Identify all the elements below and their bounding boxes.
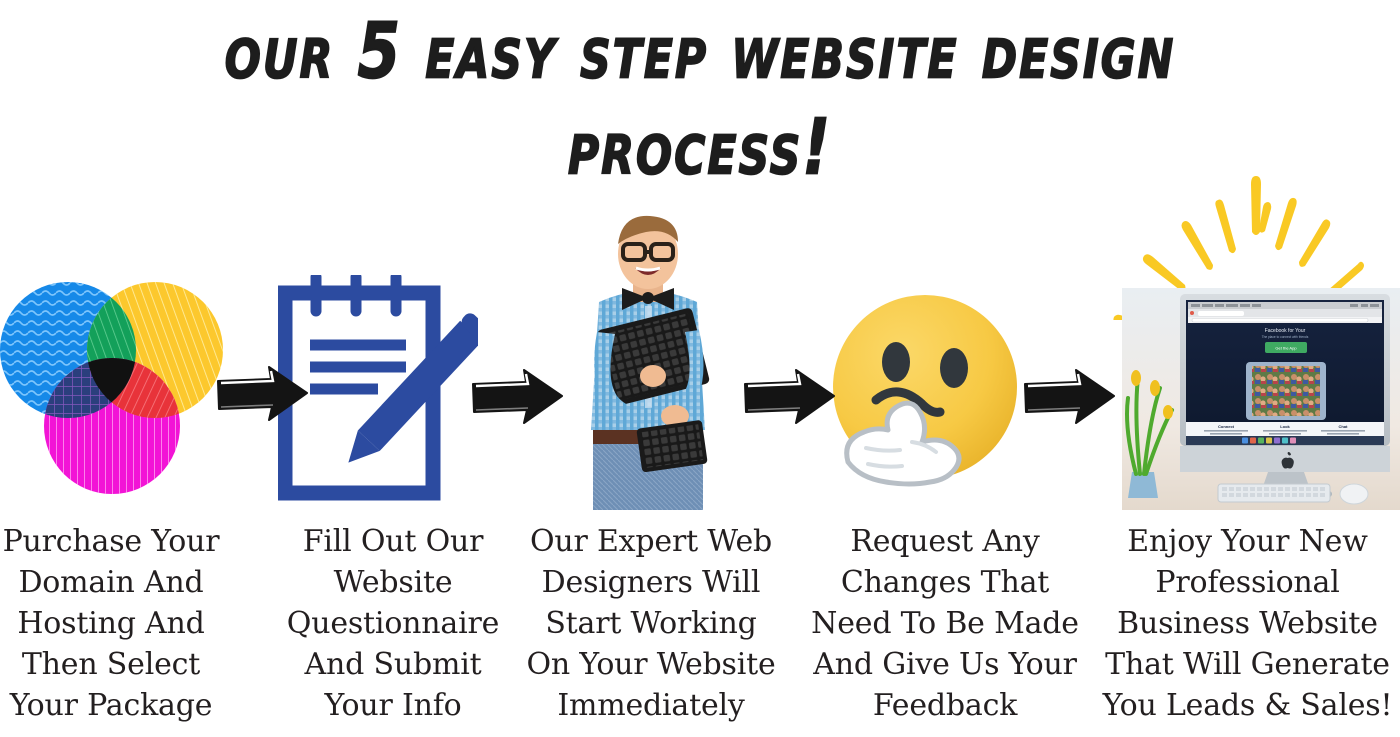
imac-photo-svg: Facebook for Your The place to connect w… <box>1122 288 1400 510</box>
arrow-step-4-to-5 <box>1022 368 1117 426</box>
step-1-artwork <box>0 170 225 515</box>
step-4-caption: Request Any Changes That Need To Be Made… <box>805 521 1085 726</box>
imac-desktop-photo: Facebook for Your The place to connect w… <box>1122 288 1400 510</box>
right-arrow-icon <box>742 368 837 426</box>
desk-mouse <box>1340 484 1368 504</box>
svg-text:Get the App: Get the App <box>1275 346 1297 351</box>
venn-diagram-svg <box>0 278 225 508</box>
thinking-face-svg <box>828 290 1028 502</box>
imac-screen-col-2: Look <box>1280 424 1290 429</box>
notepad-lines <box>310 345 406 389</box>
step-3-caption: Our Expert Web Designers Will Start Work… <box>525 521 777 726</box>
emoji-eye-right <box>940 348 968 388</box>
imac-screen-subline: The place to connect with friends <box>1262 335 1309 339</box>
step-1-caption: Purchase Your Domain And Hosting And The… <box>0 521 222 726</box>
keyboard-lower-icon <box>636 420 707 473</box>
step-2-caption: Fill Out Our Website Questionnaire And S… <box>278 521 508 726</box>
imac-screen-col-1: Connect <box>1218 424 1235 429</box>
step-5-caption: Enjoy Your New Professional Business Web… <box>1095 521 1400 726</box>
page-title: Our 5 Easy Step Website Design Process! <box>0 4 1400 196</box>
arrow-step-1-to-2 <box>215 365 310 423</box>
emoji-eye-left <box>882 342 910 382</box>
step-captions-row: Purchase Your Domain And Hosting And The… <box>0 521 1400 737</box>
desk-keyboard <box>1218 484 1330 502</box>
imac-screen-col-3: Chat <box>1339 424 1349 429</box>
step-5-artwork: Facebook for Your The place to connect w… <box>1108 170 1400 515</box>
process-steps-row: Facebook for Your The place to connect w… <box>0 170 1400 515</box>
imac-screen-headline: Facebook for Your <box>1265 328 1306 334</box>
step-2-artwork <box>280 170 475 515</box>
step-4-artwork <box>828 170 1028 515</box>
arrow-step-2-to-3 <box>470 368 565 426</box>
web-designer-photo <box>553 210 743 510</box>
venn-diagram-icon <box>0 278 225 508</box>
arrow-step-3-to-4 <box>742 368 837 426</box>
right-arrow-icon <box>470 368 565 426</box>
right-arrow-icon <box>215 365 310 423</box>
designer-illustration-svg <box>553 210 743 510</box>
hand-right <box>640 365 666 387</box>
right-arrow-icon <box>1022 368 1117 426</box>
step-3-artwork <box>553 170 743 515</box>
thinking-face-emoji-icon <box>828 290 1028 502</box>
